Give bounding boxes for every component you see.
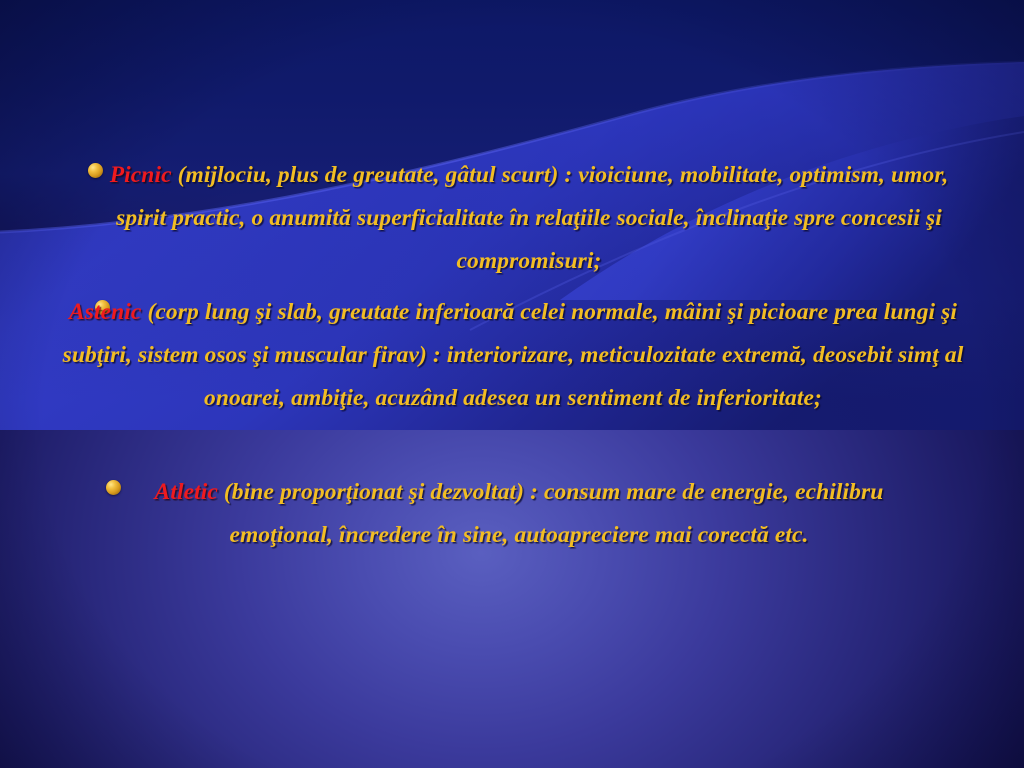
body-text-atletic: (bine proporţionat şi dezvoltat) : consu…	[218, 479, 884, 548]
gold-sphere-bullet-icon	[88, 163, 103, 178]
body-text-astenic: (corp lung şi slab, greutate inferioară …	[63, 299, 964, 411]
keyword-atletic: Atletic	[155, 479, 218, 505]
body-text-picnic: (mijlociu, plus de greutate, gâtul scurt…	[116, 162, 948, 274]
keyword-astenic: Astenic	[69, 299, 142, 325]
bullet-item-atletic: Atletic (bine proporţionat şi dezvoltat)…	[104, 471, 934, 557]
keyword-picnic: Picnic	[110, 162, 172, 188]
bullet-item-astenic: Astenic (corp lung şi slab, greutate inf…	[62, 291, 964, 420]
bullet-item-picnic: Picnic (mijlociu, plus de greutate, gâtu…	[106, 154, 952, 283]
presentation-slide: Picnic (mijlociu, plus de greutate, gâtu…	[0, 0, 1024, 768]
slide-content: Picnic (mijlociu, plus de greutate, gâtu…	[0, 0, 1024, 768]
